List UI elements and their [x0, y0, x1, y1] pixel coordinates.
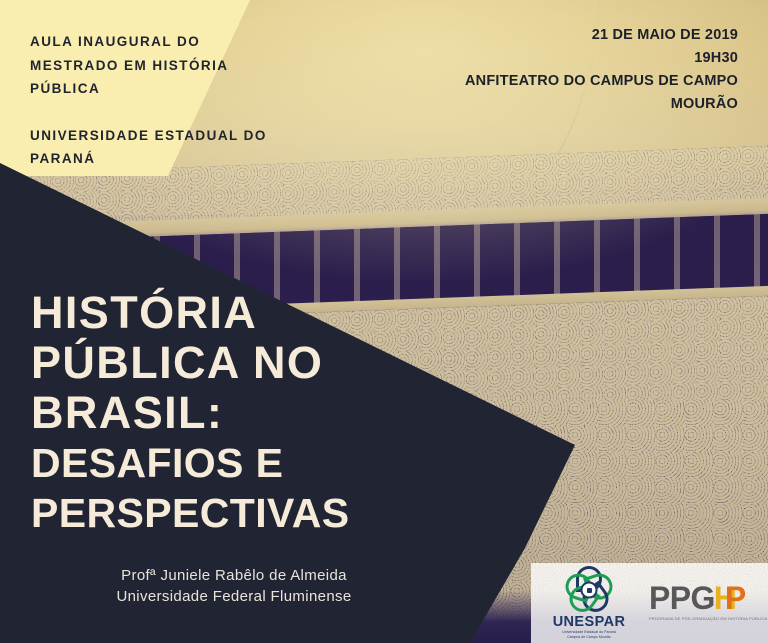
event-venue-line-2: MOURÃO	[318, 93, 738, 116]
header-left-line-3: Pública	[30, 77, 295, 101]
header-right-block: 21 DE MAIO DE 2019 19H30 ANFITEATRO DO C…	[318, 24, 738, 116]
title-line-2: Pública no	[31, 338, 501, 388]
header-left-line-2: Mestrado em História	[30, 54, 295, 78]
header-left-line-1: Aula inaugural do	[30, 30, 295, 54]
ppghp-logo: PPG H P PROGRAMA DE PÓS-GRADUAÇÃO EM HIS…	[649, 582, 767, 624]
unespar-gear-icon	[581, 582, 598, 599]
header-left-block: Aula inaugural do Mestrado em História P…	[30, 30, 295, 171]
ppghp-letter-p: P	[725, 582, 746, 614]
speaker-institution: Universidade Federal Fluminense	[0, 586, 468, 607]
event-venue-line-1: ANFITEATRO DO CAMPUS DE CAMPO	[318, 70, 738, 93]
poster-title: História Pública no Brasil: Desafios e P…	[31, 288, 501, 538]
header-left-line-4: Universidade Estadual do	[30, 124, 295, 148]
speaker-name: Profª Juniele Rabêlo de Almeida	[0, 565, 468, 586]
speaker-credit: Profª Juniele Rabêlo de Almeida Universi…	[0, 565, 468, 607]
title-line-3: Brasil:	[31, 388, 501, 438]
unespar-flower-icon	[564, 567, 614, 613]
ppghp-subtitle: PROGRAMA DE PÓS-GRADUAÇÃO EM HISTÓRIA PÚ…	[649, 616, 767, 622]
unespar-wordmark: UNESPAR	[553, 615, 626, 630]
logo-band: UNESPAR Universidade Estadual do Paraná …	[531, 563, 768, 643]
unespar-logo: UNESPAR Universidade Estadual do Paraná …	[543, 567, 635, 639]
event-time: 19H30	[318, 47, 738, 70]
event-poster: Aula inaugural do Mestrado em História P…	[0, 0, 768, 643]
header-left-line-5: Paraná	[30, 147, 295, 171]
ppghp-wordmark: PPG H P	[649, 582, 746, 614]
title-line-1: História	[31, 288, 501, 338]
title-line-5: Perspectivas	[31, 488, 501, 538]
unespar-subtitle-line-2: Campus de Campo Mourão	[567, 635, 611, 639]
event-date: 21 DE MAIO DE 2019	[318, 24, 738, 47]
title-line-4: Desafios e	[31, 438, 501, 488]
ppghp-letters-ppg: PPG	[649, 582, 715, 614]
